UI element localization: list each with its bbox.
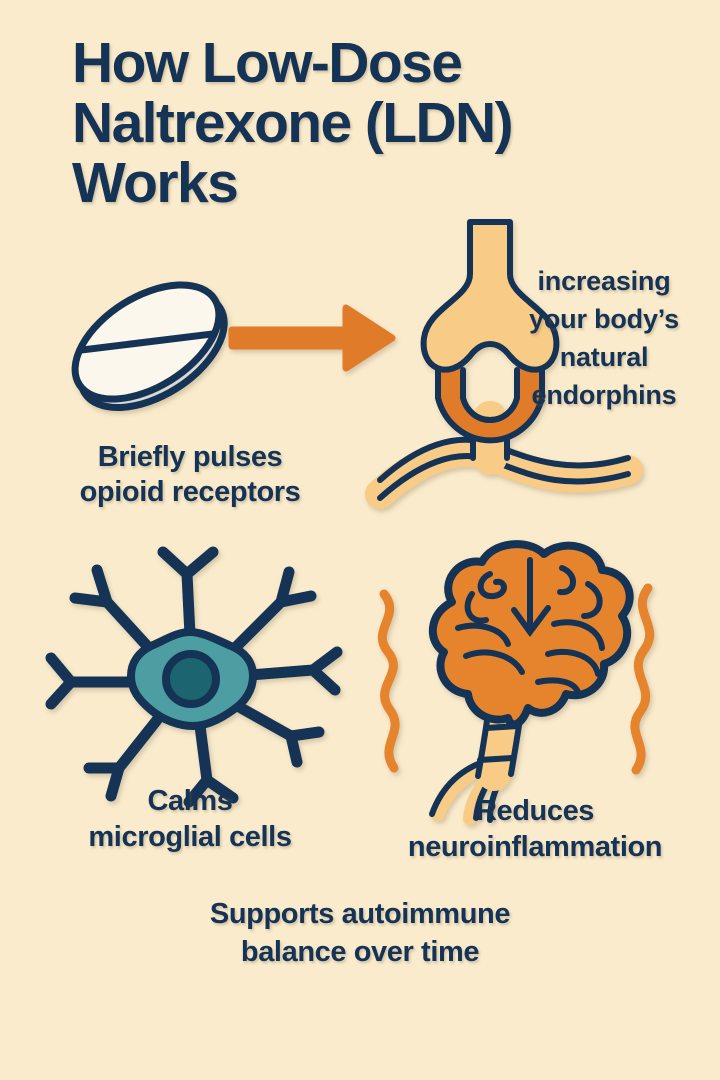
page-title: How Low-Dose Naltrexone (LDN) Works: [72, 33, 692, 213]
caption-synapse: increasing your body’s natural endorphin…: [500, 262, 708, 414]
caption-footer: Supports autoimmune balance over time: [110, 895, 610, 971]
brain-with-brainstem-icon: [362, 532, 682, 832]
pill-tablet-icon: [55, 262, 240, 422]
caption-pill: Briefly pulses opioid receptors: [30, 440, 350, 510]
caption-microglia: Calms microglial cells: [30, 783, 350, 855]
right-arrow-icon: [228, 300, 398, 376]
inflammation-squiggle-left: [382, 594, 395, 768]
caption-brain: Reduces neuroinflammation: [370, 793, 700, 865]
inflammation-squiggle-right: [635, 588, 650, 770]
microglial-cell-icon: [45, 540, 335, 795]
infographic-poster: How Low-Dose Naltrexone (LDN) Works: [0, 0, 720, 1080]
